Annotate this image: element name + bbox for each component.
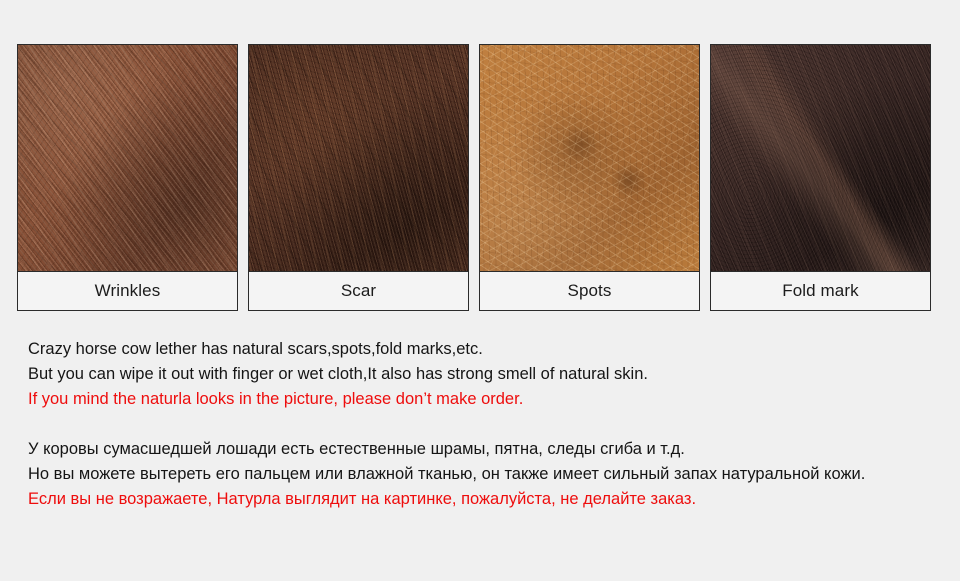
english-line-2: But you can wipe it out with finger or w… [28, 362, 933, 387]
product-description-panel: Wrinkles Scar Spots Fold mark Crazy hors… [0, 0, 960, 581]
paragraph-spacer [28, 412, 933, 437]
russian-line-2: Но вы можете вытереть его пальцем или вл… [28, 462, 933, 487]
leather-swatch-scar [249, 45, 468, 272]
leather-swatch-fold-mark [711, 45, 930, 272]
russian-warning-line: Если вы не возражаете, Натурла выглядит … [28, 487, 933, 512]
leather-sample-caption-scar: Scar [249, 272, 468, 310]
english-warning-line: If you mind the naturla looks in the pic… [28, 387, 933, 412]
leather-sample-spots: Spots [479, 44, 700, 311]
english-line-1: Crazy horse cow lether has natural scars… [28, 337, 933, 362]
leather-sample-caption-fold-mark: Fold mark [711, 272, 930, 310]
leather-sample-wrinkles: Wrinkles [17, 44, 238, 311]
leather-sample-strip: Wrinkles Scar Spots Fold mark [17, 44, 944, 311]
russian-line-1: У коровы сумасшедшей лошади есть естеств… [28, 437, 933, 462]
leather-sample-fold-mark: Fold mark [710, 44, 931, 311]
leather-swatch-spots [480, 45, 699, 272]
leather-sample-caption-wrinkles: Wrinkles [18, 272, 237, 310]
description-text-block: Crazy horse cow lether has natural scars… [28, 337, 933, 512]
leather-swatch-wrinkles [18, 45, 237, 272]
leather-sample-scar: Scar [248, 44, 469, 311]
leather-sample-caption-spots: Spots [480, 272, 699, 310]
